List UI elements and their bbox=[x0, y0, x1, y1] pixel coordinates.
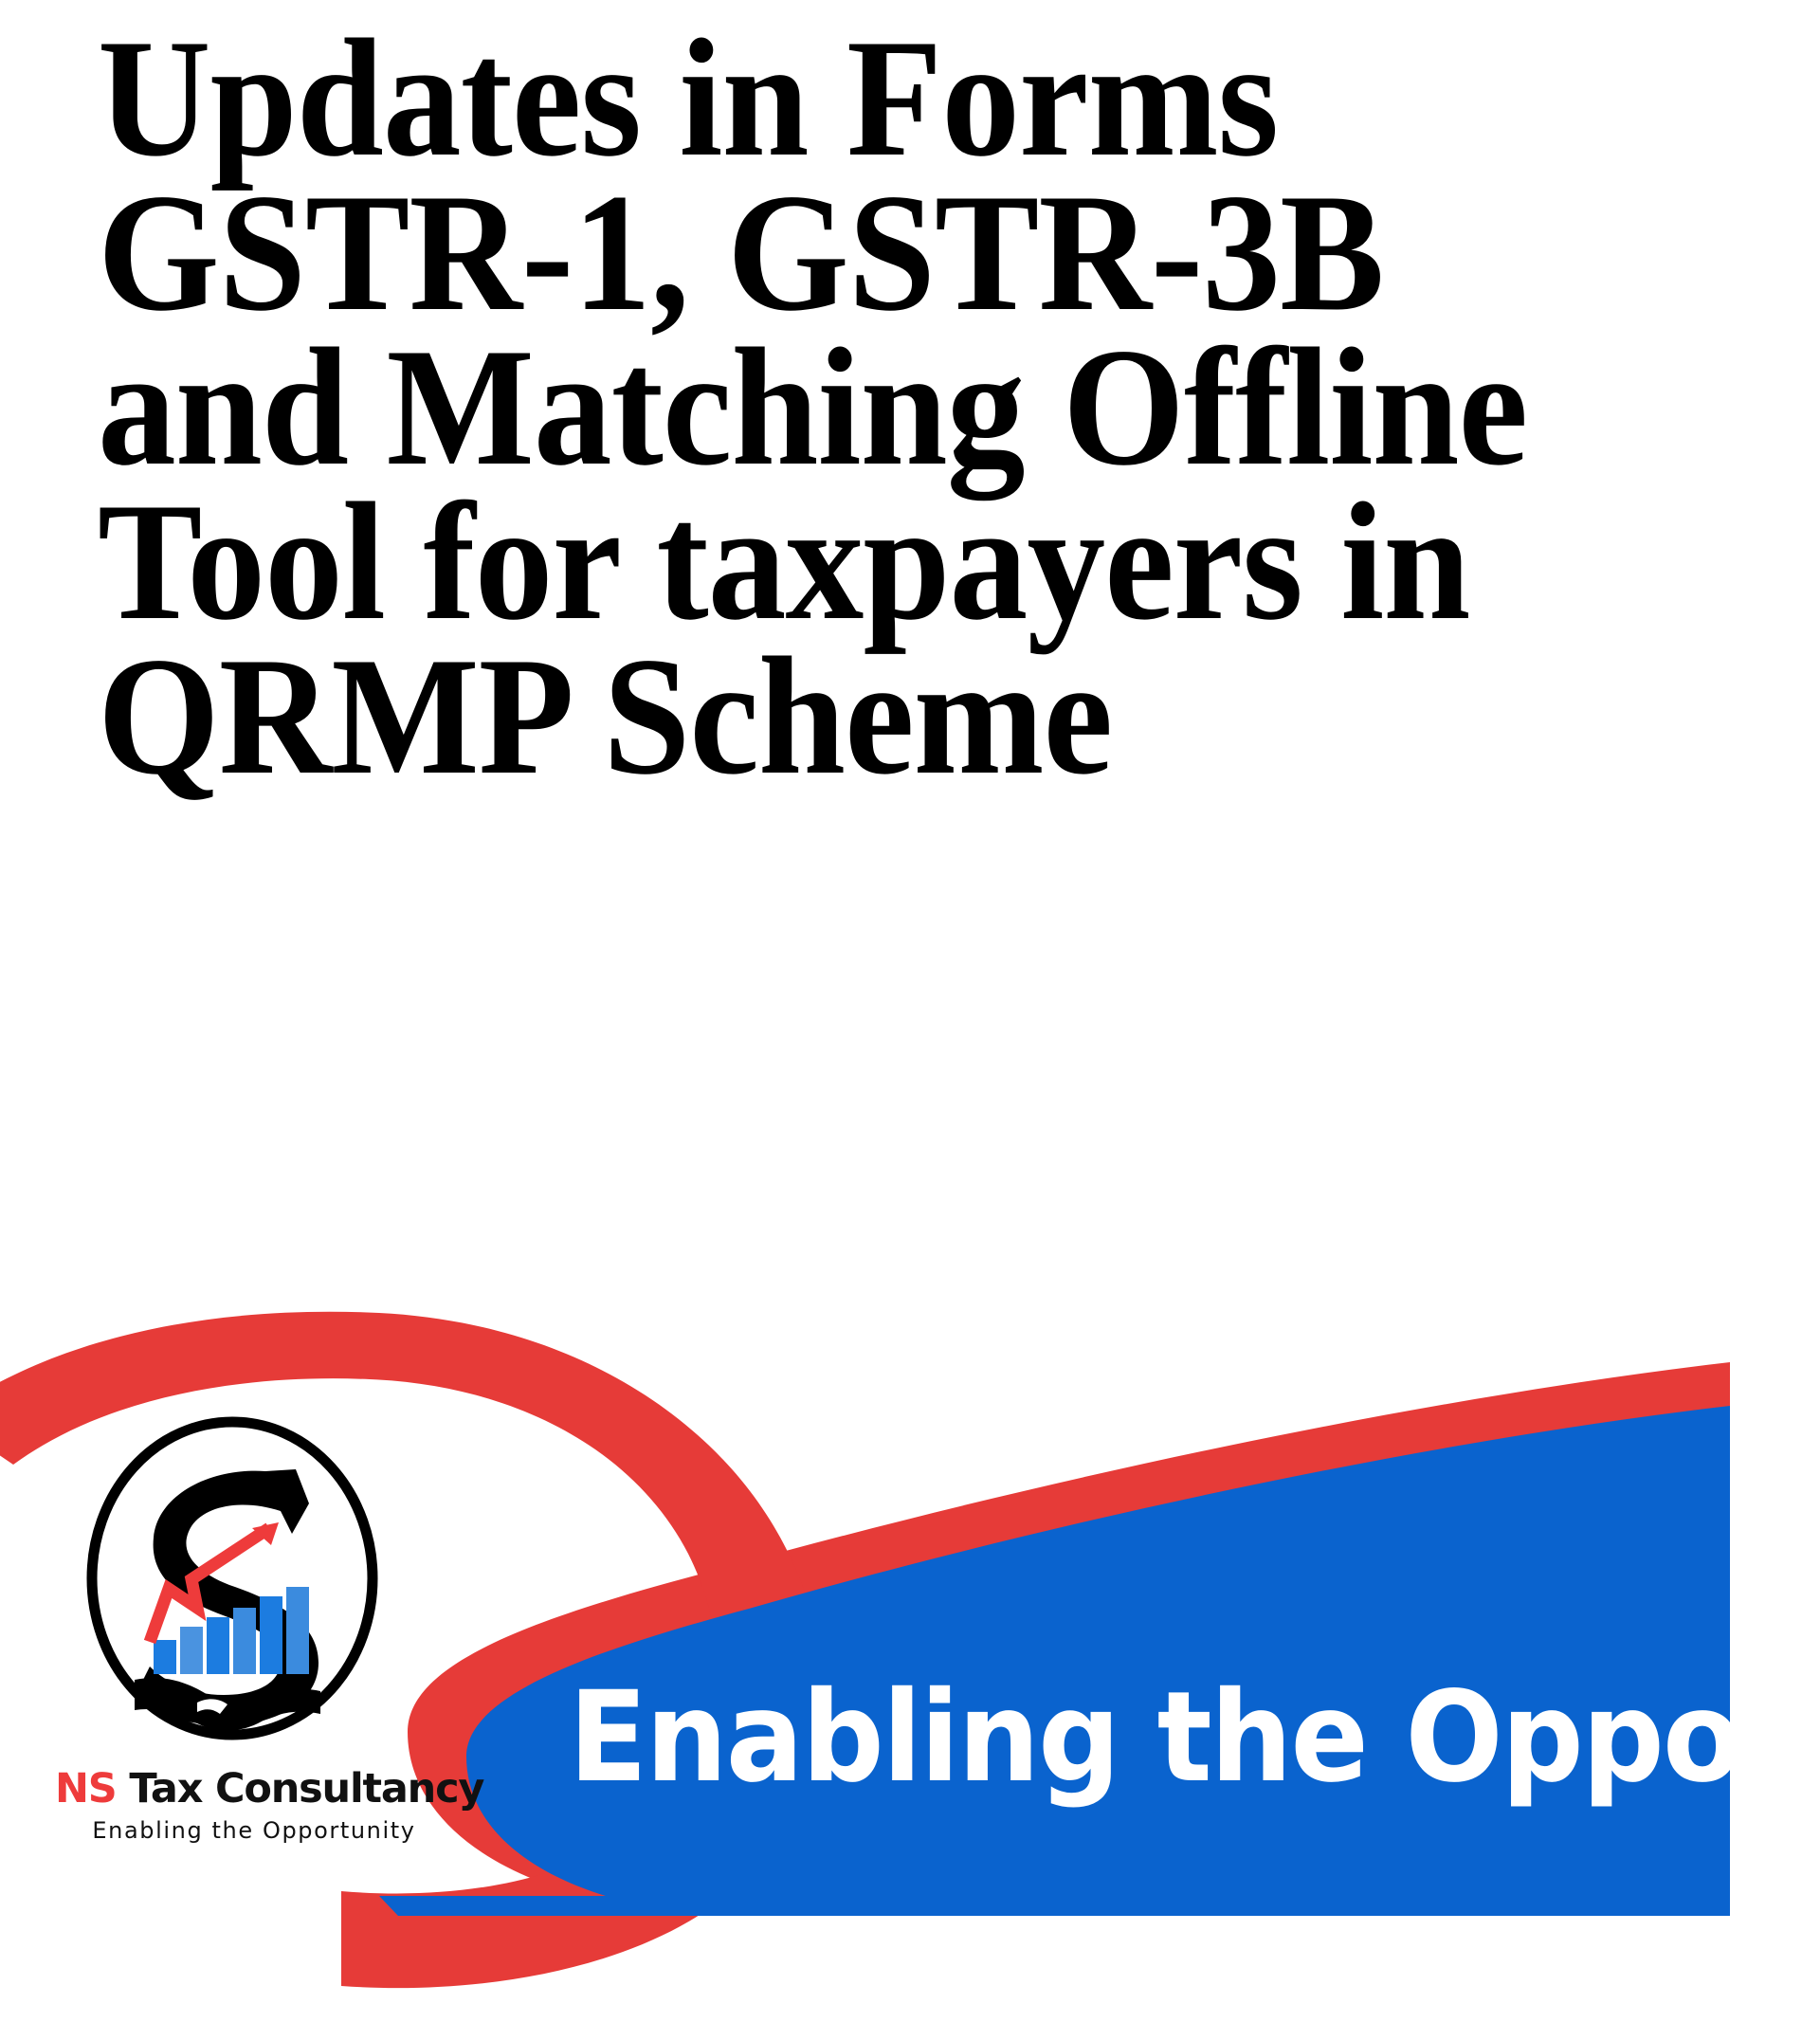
ns-tax-consultancy-logo-icon bbox=[76, 1412, 389, 1744]
logo-ring bbox=[92, 1422, 373, 1735]
brand-logo: NS Tax Consultancy Enabling the Opportun… bbox=[55, 1412, 453, 1962]
logo-icon-shapes bbox=[76, 1412, 389, 1744]
brand-tagline: Enabling the Opportunity bbox=[55, 1817, 453, 1844]
brand-name-accent: NS bbox=[55, 1765, 117, 1812]
brand-name: NS Tax Consultancy bbox=[55, 1765, 453, 1812]
brand-name-rest: Tax Consultancy bbox=[117, 1765, 484, 1812]
page-title: Updates in Forms GSTR-1, GSTR-3B and Mat… bbox=[98, 21, 1649, 793]
